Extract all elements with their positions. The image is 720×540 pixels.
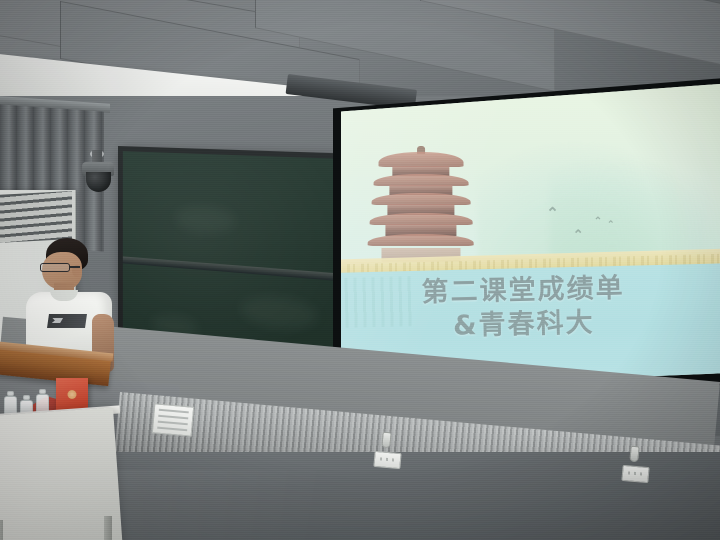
pagoda-tower-graphic xyxy=(371,150,470,262)
pagoda-roof xyxy=(378,152,463,167)
bird-icon: ⌃ xyxy=(573,228,584,241)
slide-title: 第二课堂成绩单 &青春科大 xyxy=(341,270,707,346)
wall-sign xyxy=(152,403,194,436)
wall-outlet-2[interactable] xyxy=(621,465,649,483)
bird-icon: ⌃ xyxy=(607,220,615,229)
t-shirt-graphic xyxy=(47,314,87,328)
bird-icon: ⌃ xyxy=(594,217,602,227)
desk-leg xyxy=(0,520,3,540)
bird-icon: ⌃ xyxy=(546,206,559,221)
chalk-smudge xyxy=(241,292,318,331)
eyeglasses-icon xyxy=(40,263,70,272)
desk-leg xyxy=(104,516,112,540)
bottle-cap xyxy=(23,395,30,400)
bottle-cap xyxy=(7,391,14,396)
ac-vent-grille-icon xyxy=(0,191,72,243)
pagoda-roof xyxy=(367,234,474,246)
chalk-smudge xyxy=(175,204,235,235)
wall-outlet-1[interactable] xyxy=(373,451,401,469)
classroom-scene: ⌃ ⌃ ⌃ ⌃ 第二课堂成绩单 &青春科大 xyxy=(0,0,720,540)
bottle-cap xyxy=(39,389,46,394)
projection-screen: ⌃ ⌃ ⌃ ⌃ 第二课堂成绩单 &青春科大 xyxy=(341,82,720,392)
